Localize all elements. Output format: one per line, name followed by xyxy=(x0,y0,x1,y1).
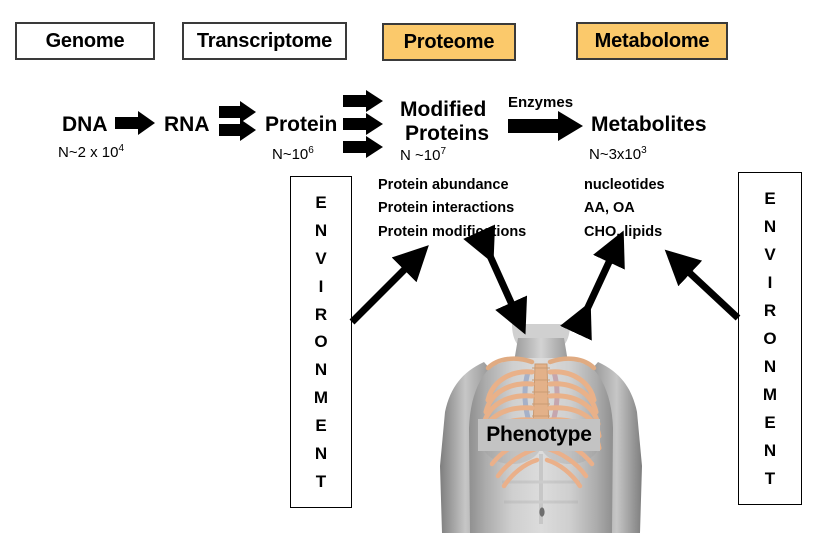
env-letter: N xyxy=(764,358,776,375)
env-letter: T xyxy=(316,473,326,490)
arrow-environment-right-to-phenotype xyxy=(678,262,738,318)
env-letter: E xyxy=(315,417,326,434)
omics-box-metabolome[interactable]: Metabolome xyxy=(576,22,728,60)
count-dna-exponent: 4 xyxy=(118,143,124,154)
env-letter: V xyxy=(315,250,326,267)
environment-box-right: E N V I R O N M E N T xyxy=(738,172,802,505)
feature-list-metabolome: nucleotides AA, OA CHO, lipids xyxy=(584,174,665,244)
omics-box-transcriptome[interactable]: Transcriptome xyxy=(182,22,347,60)
env-letter: O xyxy=(763,330,776,347)
count-dna: N~2 x 104 xyxy=(58,143,124,161)
diagram-canvas: Genome Transcriptome Proteome Metabolome… xyxy=(0,0,822,533)
omics-box-metabolome-label: Metabolome xyxy=(595,30,710,53)
feature-item: nucleotides xyxy=(584,174,665,197)
env-letter: I xyxy=(768,274,773,291)
feature-item: Protein interactions xyxy=(378,197,526,220)
env-letter: N xyxy=(764,442,776,459)
omics-box-transcriptome-label: Transcriptome xyxy=(197,30,332,53)
environment-box-left: E N V I R O N M E N T xyxy=(290,176,352,508)
arrow-group-protein-to-modified xyxy=(343,90,383,158)
arrow-proteome-to-phenotype xyxy=(486,247,518,318)
count-protein-exponent: 6 xyxy=(308,145,314,156)
flow-node-dna: DNA xyxy=(62,114,108,136)
env-letter: M xyxy=(314,389,328,406)
env-letter: R xyxy=(315,306,327,323)
arrow-group-rna-to-protein xyxy=(219,101,256,141)
omics-box-proteome[interactable]: Proteome xyxy=(382,23,516,61)
feature-item: Protein modifications xyxy=(378,221,526,244)
env-letter: N xyxy=(315,361,327,378)
omics-box-proteome-label: Proteome xyxy=(404,31,495,54)
omics-box-genome[interactable]: Genome xyxy=(15,22,155,60)
env-letter: O xyxy=(314,333,327,350)
env-letter: N xyxy=(315,222,327,239)
feature-list-proteome: Protein abundance Protein interactions P… xyxy=(378,174,526,244)
arrow-environment-left-to-proteome xyxy=(352,258,416,322)
env-letter: N xyxy=(764,218,776,235)
count-metabolites: N~3x103 xyxy=(589,145,647,163)
phenotype-label-text: Phenotype xyxy=(486,423,592,447)
feature-item: AA, OA xyxy=(584,197,665,220)
arrow-metabolome-to-phenotype xyxy=(583,247,616,318)
count-protein-base: N~10 xyxy=(272,146,308,163)
env-letter: M xyxy=(763,386,777,403)
arrow-modified-to-metabolites xyxy=(508,111,583,141)
env-letter: T xyxy=(765,470,775,487)
env-letter: R xyxy=(764,302,776,319)
flow-node-modified-proteins-line2: Proteins xyxy=(405,123,489,145)
feature-item: CHO, lipids xyxy=(584,221,665,244)
env-letter: V xyxy=(764,246,775,263)
flow-node-protein: Protein xyxy=(265,114,337,136)
env-letter: E xyxy=(764,414,775,431)
count-modified-proteins: N ~107 xyxy=(400,146,446,164)
env-letter: I xyxy=(319,278,324,295)
env-letter: E xyxy=(315,194,326,211)
flow-node-modified-proteins-line1: Modified xyxy=(400,99,486,121)
count-protein: N~106 xyxy=(272,145,314,163)
flow-node-rna: RNA xyxy=(164,114,210,136)
env-letter: E xyxy=(764,190,775,207)
count-metabolites-exponent: 3 xyxy=(641,145,647,156)
arrow-dna-to-rna xyxy=(115,111,155,135)
env-letter: N xyxy=(315,445,327,462)
count-modified-exponent: 7 xyxy=(440,146,446,157)
enzymes-label: Enzymes xyxy=(508,94,573,111)
navel xyxy=(539,507,544,516)
feature-item: Protein abundance xyxy=(378,174,526,197)
flow-node-metabolites: Metabolites xyxy=(591,114,707,136)
arrow-overlay xyxy=(0,0,822,533)
count-dna-base: N~2 x 10 xyxy=(58,144,118,161)
phenotype-label: Phenotype xyxy=(478,419,600,451)
omics-box-genome-label: Genome xyxy=(46,30,125,53)
count-metabolites-base: N~3x10 xyxy=(589,146,641,163)
count-modified-base: N ~10 xyxy=(400,147,440,164)
